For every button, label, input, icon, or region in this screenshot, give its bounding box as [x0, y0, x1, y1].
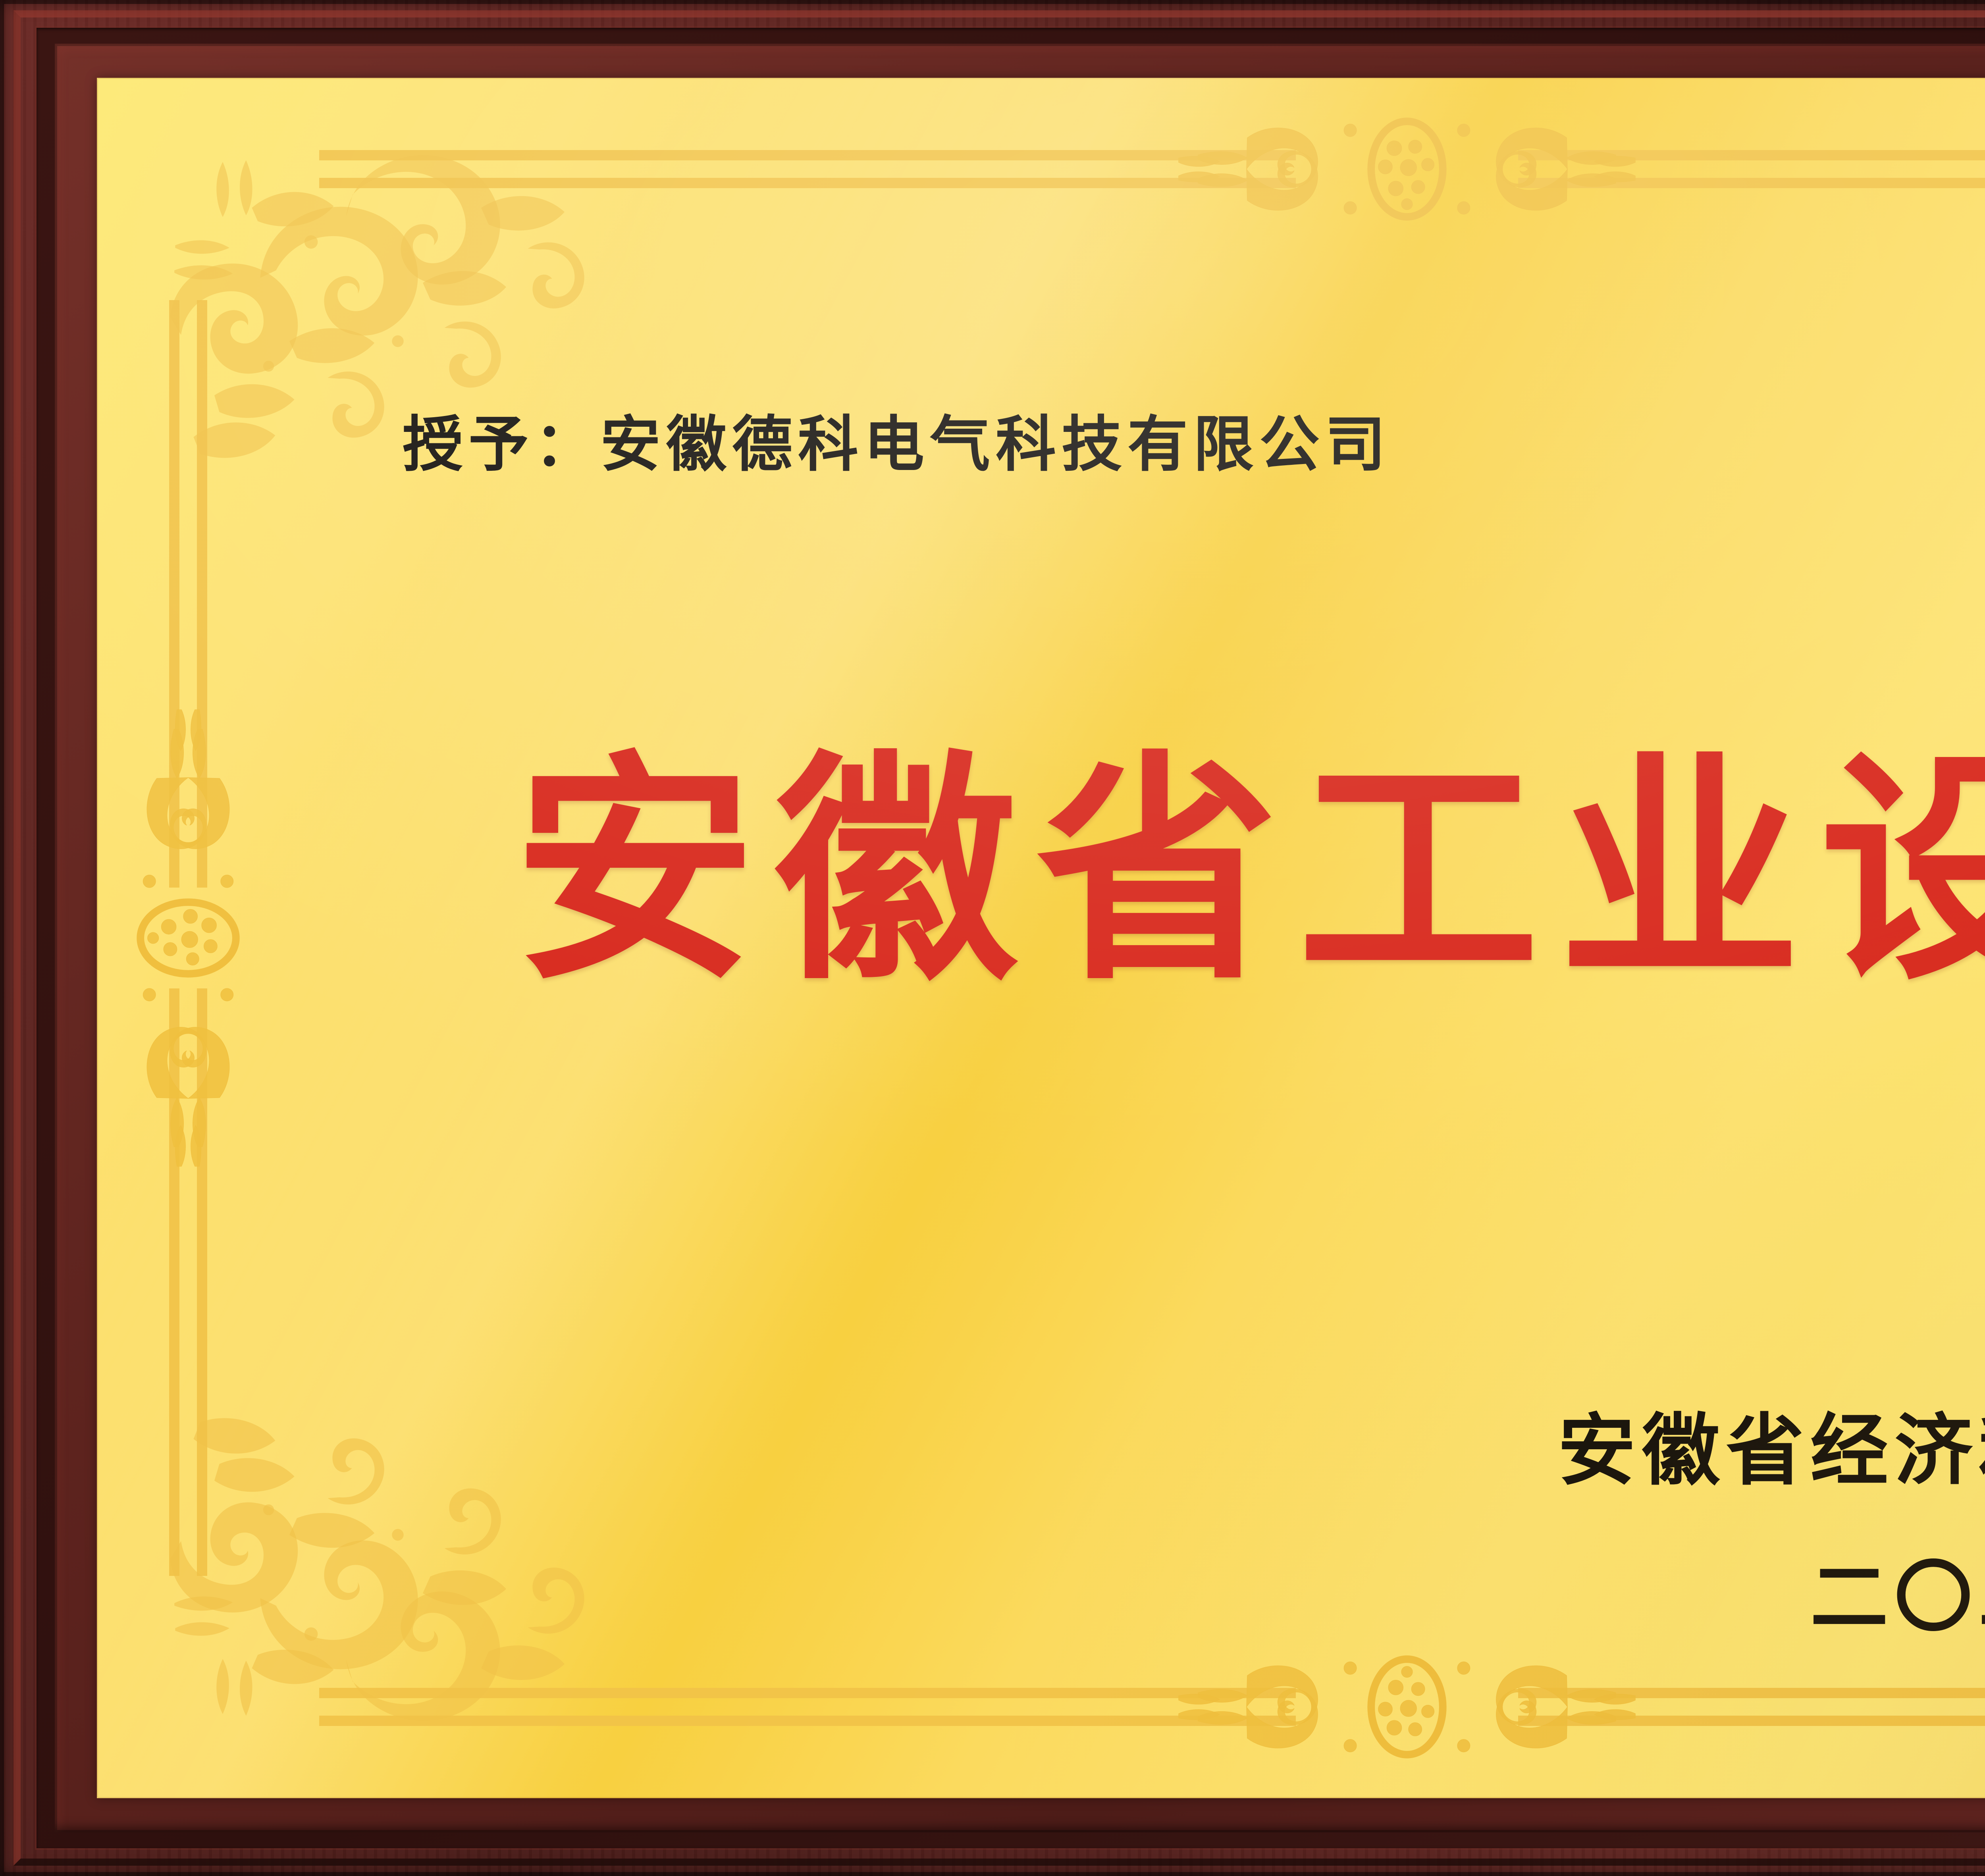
award-plaque: 授予：安徽德科电气科技有限公司 安徽省工业设计中心 安徽省经济和信息化厅 二〇二… — [0, 0, 1985, 1876]
issuing-authority: 安徽省经济和信息化厅 — [1558, 1388, 1985, 1500]
plaque-main-title: 安徽省工业设计中心 — [514, 753, 1985, 995]
award-recipient-line: 授予：安徽德科电气科技有限公司 — [403, 395, 1391, 483]
issue-date: 二〇二〇年七月 — [1810, 1535, 1985, 1647]
gold-plate: 授予：安徽德科电气科技有限公司 安徽省工业设计中心 安徽省经济和信息化厅 二〇二… — [97, 78, 1985, 1798]
plaque-content: 授予：安徽德科电气科技有限公司 安徽省工业设计中心 安徽省经济和信息化厅 二〇二… — [97, 78, 1985, 1798]
